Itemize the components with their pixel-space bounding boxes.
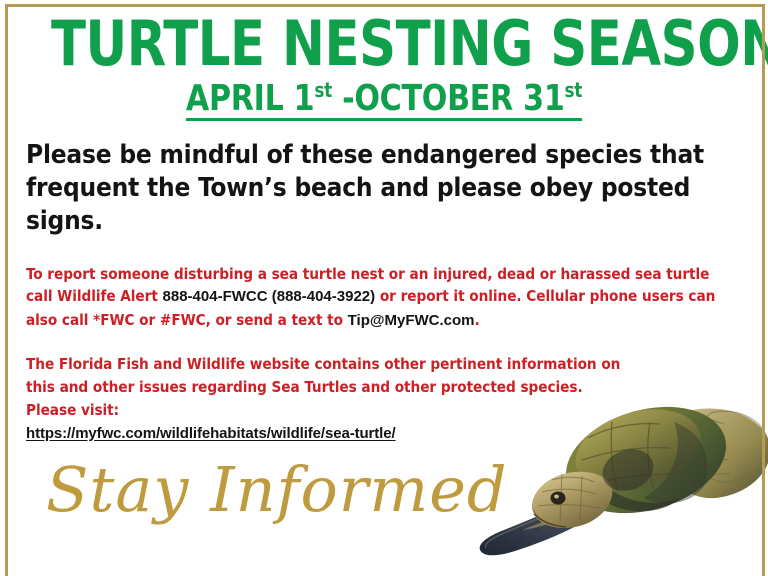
- page-title: TURTLE NESTING SEASON: [51, 0, 717, 75]
- intro-paragraph: Please be mindful of these endangered sp…: [22, 139, 746, 239]
- myfwc-sea-turtle-link[interactable]: https://myfwc.com/wildlifehabitats/wildl…: [26, 425, 396, 442]
- report-paragraph: To report someone disturbing a sea turtl…: [22, 263, 746, 333]
- season-dates-prefix: APRIL 1: [186, 78, 314, 119]
- report-text-period: .: [475, 311, 480, 329]
- subtitle-container: APRIL 1st -OCTOBER 31st: [22, 81, 746, 121]
- season-dates-middle: -OCTOBER 31: [332, 78, 565, 119]
- wildlife-alert-phone: 888-404-FWCC (888-404-3922): [163, 288, 376, 305]
- frame-border-right: [762, 4, 765, 576]
- season-dates-ordinal-end: st: [565, 78, 583, 102]
- stay-informed-slogan: Stay Informed: [22, 459, 746, 521]
- website-text: The Florida Fish and Wildlife website co…: [26, 355, 620, 419]
- season-dates-ordinal-start: st: [314, 78, 332, 102]
- website-paragraph: The Florida Fish and Wildlife website co…: [22, 353, 746, 445]
- frame-border-left: [5, 4, 8, 576]
- season-dates: APRIL 1st -OCTOBER 31st: [186, 81, 582, 121]
- frame-border-top: [5, 4, 765, 7]
- tip-email-address: Tip@MyFWC.com: [348, 312, 475, 329]
- poster-content: TURTLE NESTING SEASON APRIL 1st -OCTOBER…: [0, 0, 768, 521]
- turtle-nesting-season-poster: TURTLE NESTING SEASON APRIL 1st -OCTOBER…: [0, 0, 768, 576]
